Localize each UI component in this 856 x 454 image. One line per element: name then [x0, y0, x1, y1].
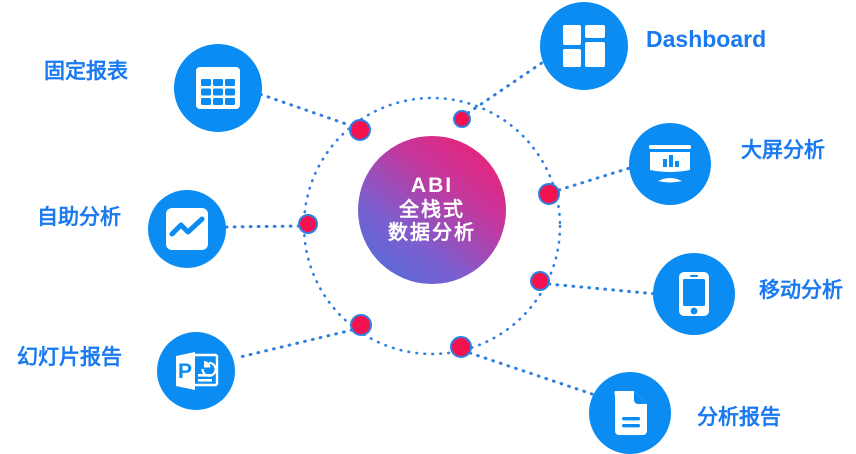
dashboard-label: Dashboard	[646, 28, 766, 51]
center-hub: ABI 全栈式 数据分析	[358, 136, 506, 284]
document-report-icon	[611, 390, 649, 436]
wire-to-slide-report	[236, 330, 352, 358]
slide-report-bubble[interactable]: P	[157, 332, 235, 410]
ring-node-top-left	[349, 119, 371, 141]
ring-node-right-upper	[538, 183, 560, 205]
mobile-label: 移动分析	[759, 280, 843, 301]
fixed-report-label: 固定报表	[44, 61, 128, 82]
analysis-report-bubble[interactable]	[589, 372, 671, 454]
analysis-report-label: 分析报告	[697, 407, 781, 428]
smartphone-icon	[678, 271, 710, 317]
ring-node-left	[298, 214, 318, 234]
self-service-label: 自助分析	[37, 207, 121, 228]
wire-to-analysis-report	[470, 353, 598, 396]
table-grid-icon	[195, 66, 241, 110]
wire-to-dashboard	[468, 56, 552, 113]
mobile-bubble[interactable]	[653, 253, 735, 335]
slide-report-label: 幻灯片报告	[17, 347, 122, 368]
big-screen-label: 大屏分析	[741, 140, 825, 161]
ring-node-bottom-right	[450, 336, 472, 358]
dashboard-bubble[interactable]	[540, 2, 628, 90]
wire-to-fixed-report	[254, 92, 352, 126]
ring-node-top-right	[453, 110, 471, 128]
wire-to-big-screen	[559, 166, 636, 190]
ring-node-right-lower	[530, 271, 550, 291]
line-chart-icon	[165, 207, 209, 251]
fixed-report-bubble[interactable]	[174, 44, 262, 132]
hub-line-1: ABI	[411, 174, 453, 199]
infographic-canvas: ABI 全栈式 数据分析 固定报表	[0, 0, 856, 454]
dashboard-layout-icon	[561, 23, 607, 69]
monitor-chart-icon	[646, 143, 694, 185]
wire-to-self-service	[225, 226, 299, 227]
self-service-bubble[interactable]	[148, 190, 226, 268]
svg-text:P: P	[178, 360, 192, 383]
ring-node-bottom-left	[350, 314, 372, 336]
powerpoint-slide-icon: P	[173, 350, 219, 392]
big-screen-bubble[interactable]	[629, 123, 711, 205]
hub-line-3: 数据分析	[388, 222, 476, 246]
hub-line-2: 全栈式	[399, 199, 465, 223]
wire-to-mobile	[549, 284, 657, 294]
